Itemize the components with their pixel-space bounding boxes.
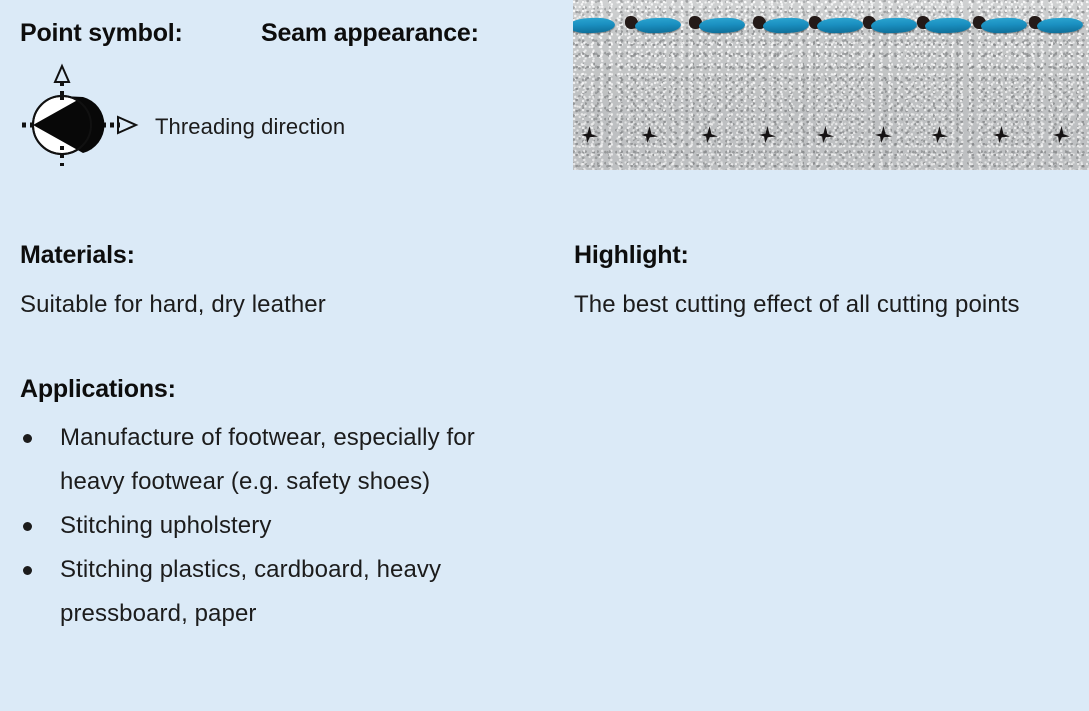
bullet-dot bbox=[23, 434, 32, 443]
heading-applications: Applications: bbox=[20, 375, 176, 404]
applications-list: Manufacture of footwear, especially for … bbox=[20, 416, 540, 636]
seam-appearance-photo bbox=[573, 0, 1089, 170]
stitch bbox=[635, 17, 681, 34]
stitch bbox=[817, 17, 863, 34]
list-item: Stitching upholstery bbox=[20, 504, 540, 548]
list-item: Manufacture of footwear, especially for … bbox=[20, 416, 540, 504]
stitch bbox=[573, 17, 615, 34]
bullet-dot bbox=[23, 566, 32, 575]
stitch bbox=[763, 17, 809, 34]
stitch bbox=[699, 17, 745, 34]
needle-hole bbox=[993, 126, 1010, 143]
heading-point-symbol: Point symbol: bbox=[20, 19, 183, 48]
needle-hole bbox=[759, 126, 776, 143]
list-item: Stitching plastics, cardboard, heavy pre… bbox=[20, 548, 540, 636]
list-item-label: Manufacture of footwear, especially for … bbox=[60, 424, 475, 495]
stitch bbox=[925, 17, 971, 34]
needle-hole bbox=[641, 126, 658, 143]
heading-highlight: Highlight: bbox=[574, 241, 689, 270]
materials-text: Suitable for hard, dry leather bbox=[20, 283, 326, 327]
needle-hole bbox=[1053, 126, 1070, 143]
needle-hole bbox=[875, 126, 892, 143]
highlight-text: The best cutting effect of all cutting p… bbox=[574, 283, 1044, 327]
info-panel: Point symbol: Seam appearance: Threading… bbox=[0, 0, 1089, 711]
needle-hole bbox=[817, 126, 834, 143]
bullet-dot bbox=[23, 522, 32, 531]
stitch bbox=[981, 17, 1027, 34]
needle-hole-row bbox=[573, 126, 1089, 150]
stitch-row bbox=[573, 16, 1089, 42]
needle-hole bbox=[581, 126, 598, 143]
heading-seam-appearance: Seam appearance: bbox=[261, 19, 479, 48]
stitch bbox=[1037, 17, 1083, 34]
threading-direction-symbol-icon bbox=[20, 60, 140, 170]
stitch bbox=[871, 17, 917, 34]
needle-hole bbox=[701, 126, 718, 143]
needle-hole bbox=[931, 126, 948, 143]
threading-direction-label: Threading direction bbox=[155, 112, 345, 142]
list-item-label: Stitching upholstery bbox=[60, 512, 271, 539]
heading-materials: Materials: bbox=[20, 241, 135, 270]
list-item-label: Stitching plastics, cardboard, heavy pre… bbox=[60, 556, 441, 627]
